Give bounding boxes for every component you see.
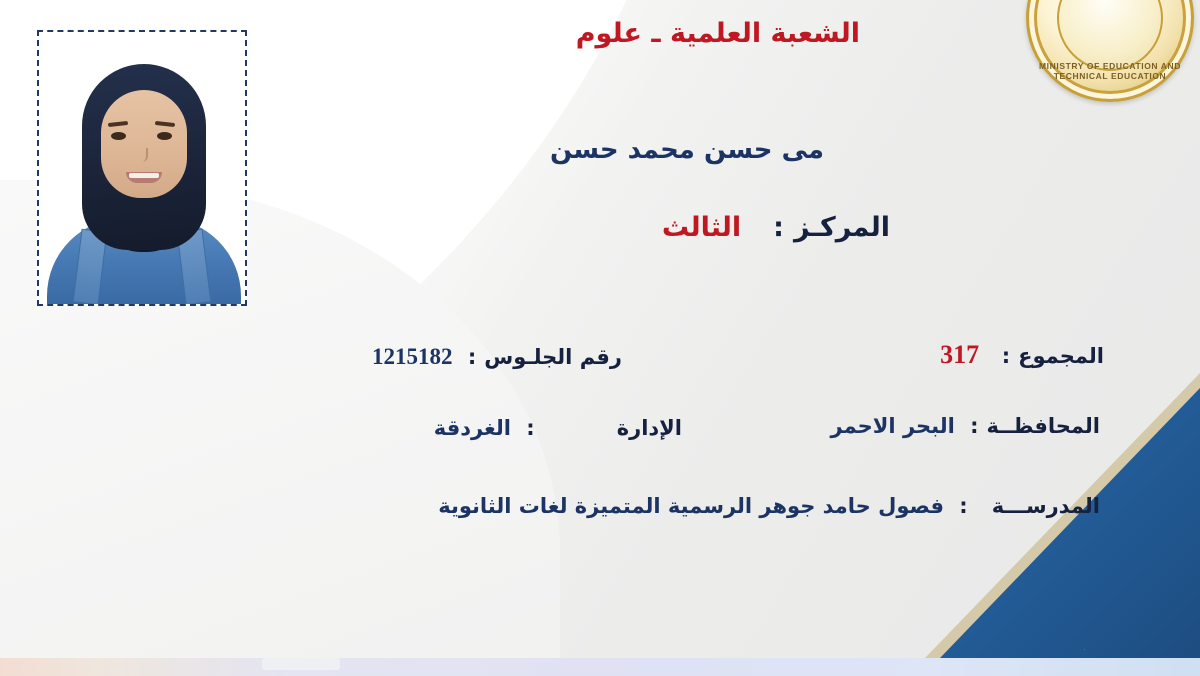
wedge-accent-line [1084,532,1194,650]
rank-value: الثالث [662,212,741,243]
student-name: مى حسن محمد حسن [550,135,824,165]
rank-label: المركـز [794,212,890,243]
honor-card-slide: وزارة التربية والتعليم MINISTRY OF EDUCA… [0,0,1200,676]
school-label: المدرســـة [992,494,1100,518]
student-photo-frame [37,30,247,306]
seat-number-field: رقم الجلـوس: 1215182 [372,344,622,370]
administration-value: الغردقة [434,416,511,440]
rank-line: المركـز:الثالث [662,212,890,243]
school-field: المدرســـة: فصول حامد جوهر الرسمية المتم… [438,494,1100,518]
seal-outer-ring: وزارة التربية والتعليم MINISTRY OF EDUCA… [1026,0,1194,102]
school-colon: : [959,494,967,518]
total-value: 317 [940,340,979,369]
total-field: المجموع: 317 [940,340,1104,370]
governorate-colon: : [970,414,978,438]
total-label: المجموع [1018,344,1104,368]
seat-number-label: رقم الجلـوس [484,345,622,369]
total-colon: : [1002,344,1010,368]
school-value: فصول حامد جوهر الرسمية المتميزة لغات الث… [438,494,944,518]
administration-field: الإدارة: الغردقة [434,416,682,440]
governorate-label: المحافظــة [987,414,1100,438]
seal-blue-tab [1078,0,1108,28]
rank-colon: : [773,212,784,243]
photo-eye-left [111,132,126,140]
governorate-field: المحافظــة: البحر الاحمر [831,414,1100,438]
seal-english-text: MINISTRY OF EDUCATION AND TECHNICAL EDUC… [1029,61,1191,81]
administration-label: الإدارة [617,416,682,440]
bottom-decorative-strip [0,658,1200,676]
seal-inner-ring [1057,0,1164,71]
administration-colon: : [526,416,534,440]
student-photo [39,32,245,304]
ministry-seal: وزارة التربية والتعليم MINISTRY OF EDUCA… [1026,0,1194,102]
photo-eye-right [157,132,172,140]
section-heading: الشعبة العلمية ـ علوم [576,18,860,49]
photo-teeth [129,173,159,178]
seat-number-colon: : [468,345,476,369]
seat-number-value: 1215182 [372,344,453,369]
governorate-value: البحر الاحمر [831,414,955,438]
